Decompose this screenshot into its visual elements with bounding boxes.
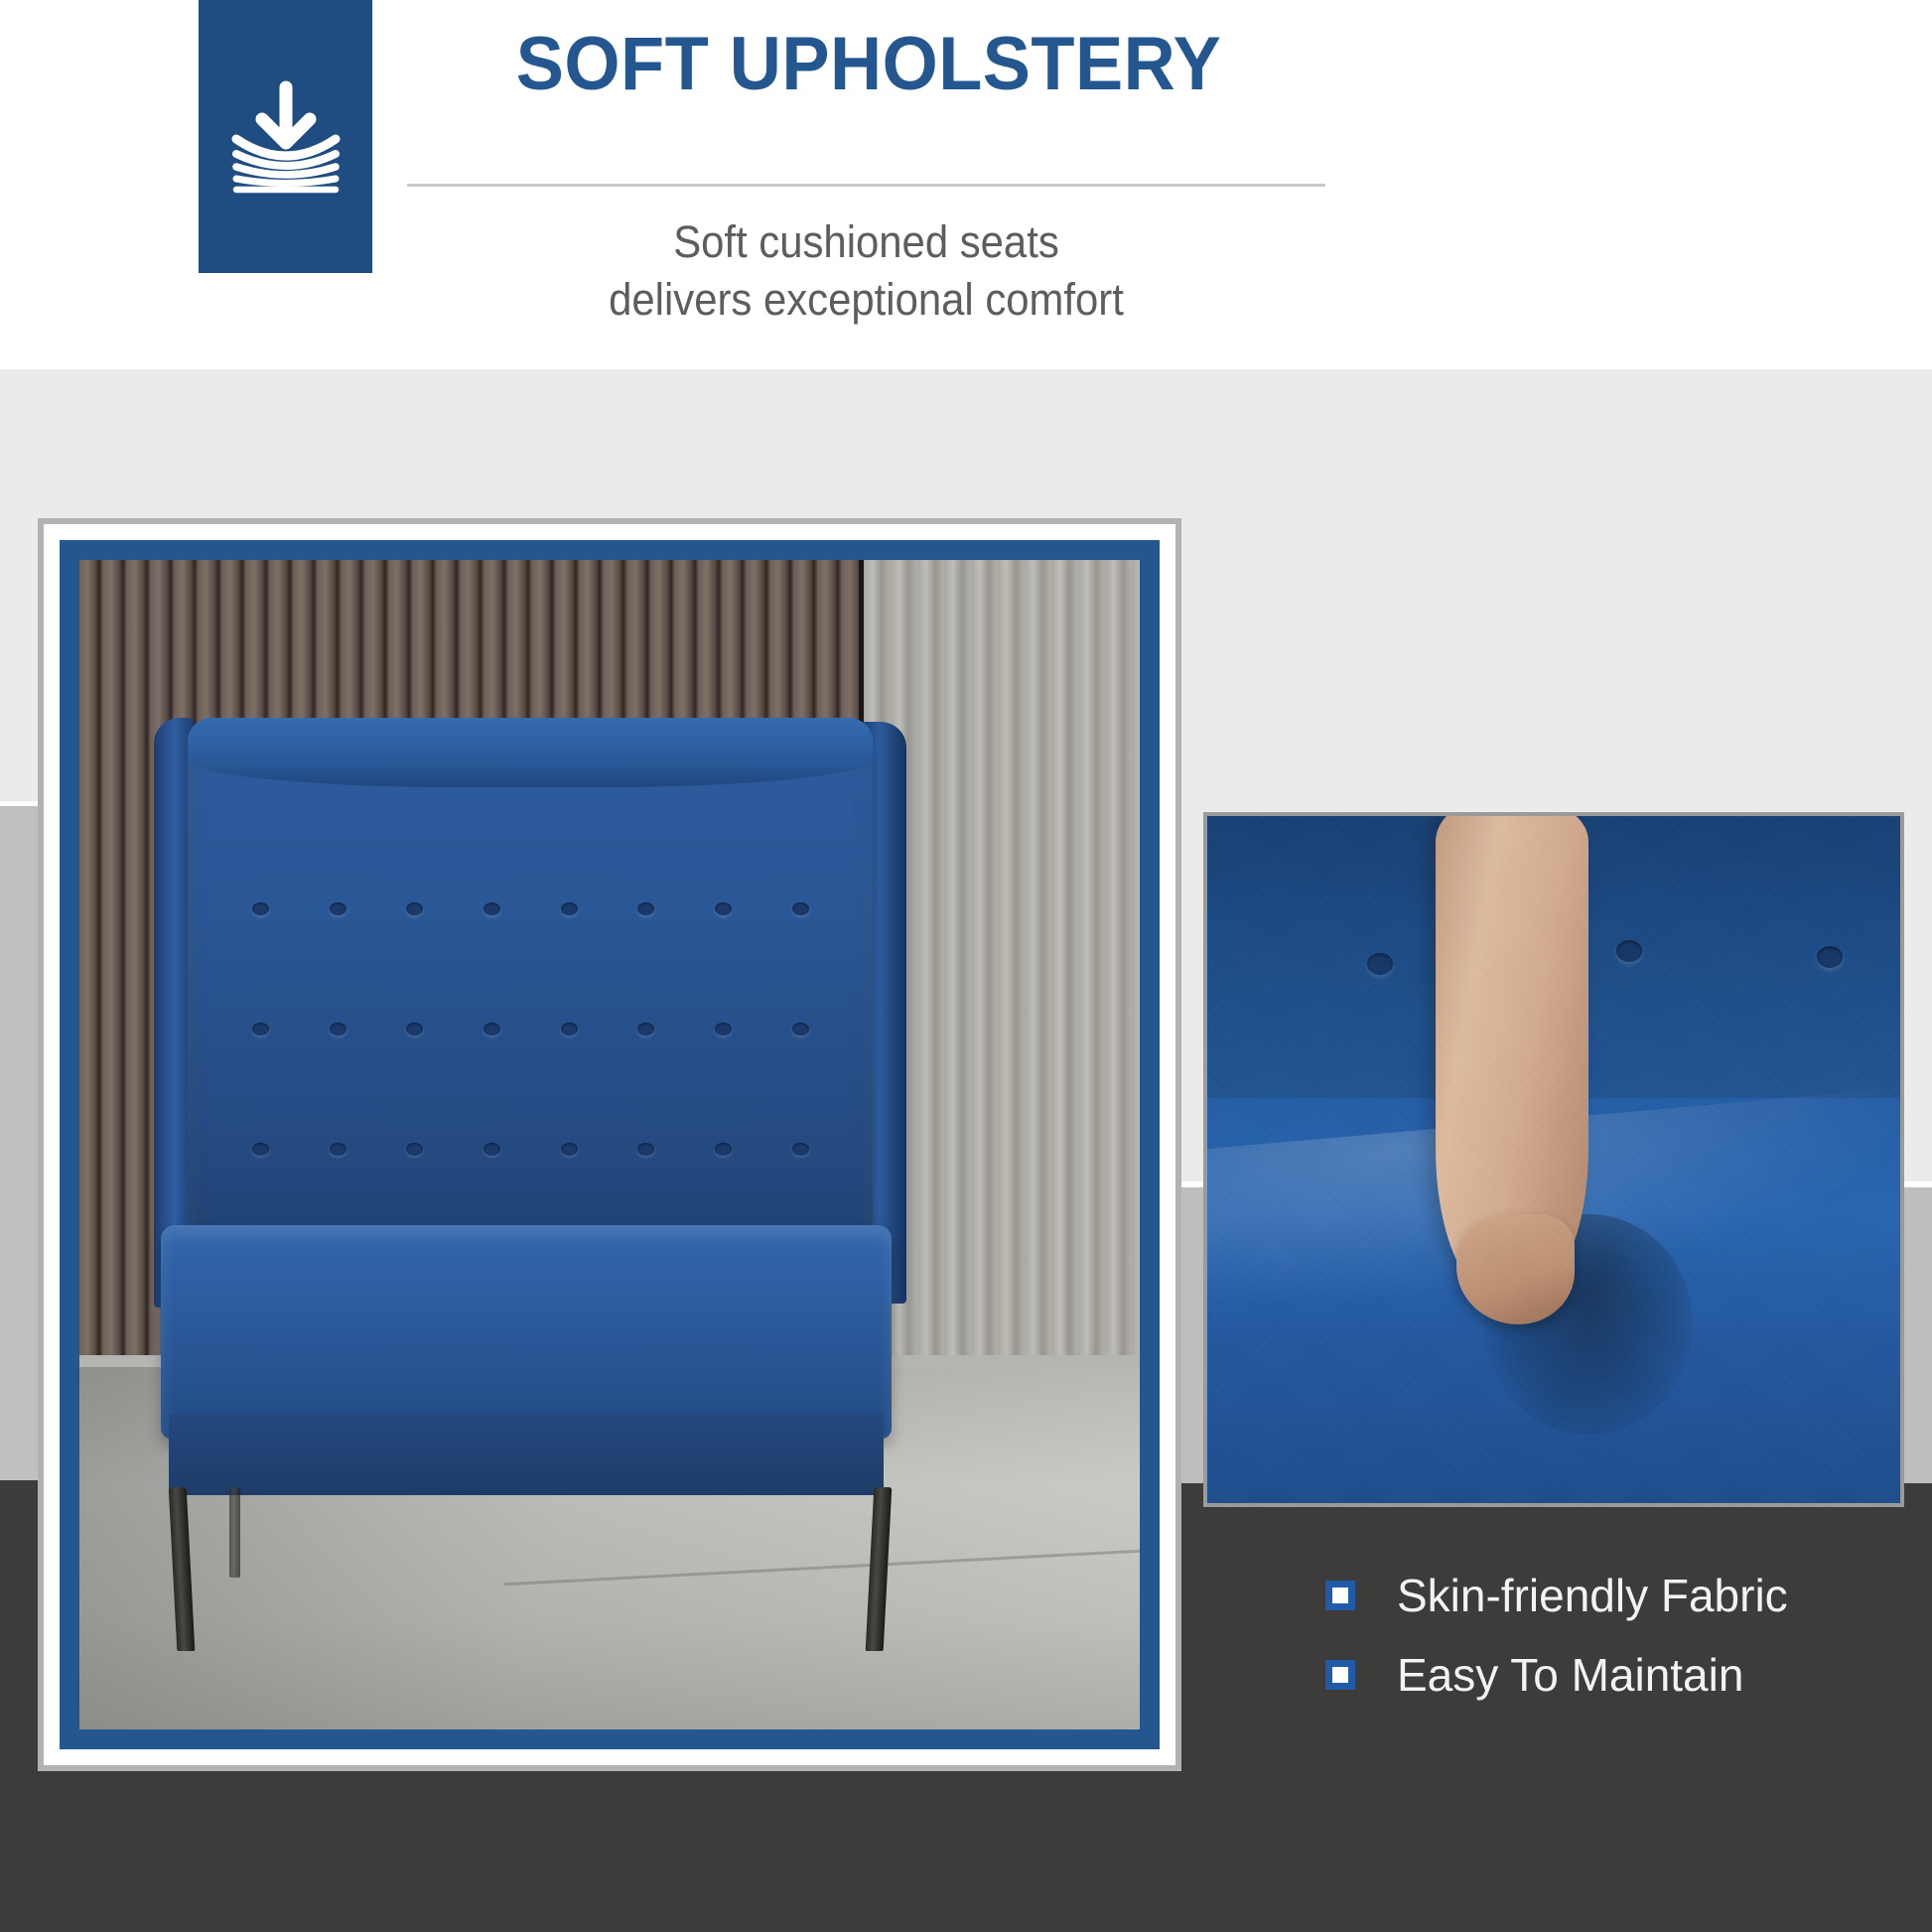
tuft-button — [684, 969, 761, 1089]
tuft-button — [684, 1089, 761, 1209]
main-photo-frame — [38, 518, 1181, 1771]
settee-tufting-grid — [221, 849, 839, 1209]
header-subtitle-line-2: delivers exceptional comfort — [439, 271, 1293, 329]
tuft-button — [453, 849, 530, 969]
tuft-button — [453, 1089, 530, 1209]
tuft-button — [530, 1089, 608, 1209]
tuft-button — [530, 969, 608, 1089]
main-photo-frame-white-mat — [44, 524, 1175, 1765]
main-photo-frame-blue-mat — [60, 540, 1160, 1749]
detail-product-photo — [1207, 816, 1900, 1503]
cushion-compress-down-arrow-icon — [220, 77, 351, 197]
feature-label: Skin-friendly Fabric — [1397, 1569, 1788, 1622]
feature-panel-canvas: SOFT UPHOLSTERY Soft cushioned seats del… — [0, 0, 1932, 1932]
detail-tuft-button — [1616, 940, 1642, 962]
feature-list: Skin-friendly Fabric Easy To Maintain — [1325, 1569, 1842, 1727]
header-subtitle: Soft cushioned seats delivers exceptiona… — [439, 213, 1293, 329]
header: SOFT UPHOLSTERY Soft cushioned seats del… — [0, 0, 1932, 369]
square-bullet-icon — [1325, 1660, 1355, 1690]
tuft-button — [221, 969, 299, 1089]
tuft-button — [299, 969, 376, 1089]
settee-leg-rear-left — [229, 1487, 240, 1578]
photo-settee — [154, 718, 906, 1537]
settee-top-roll — [188, 718, 873, 787]
tuft-button — [375, 969, 453, 1089]
tuft-button — [684, 849, 761, 969]
tuft-button — [761, 969, 839, 1089]
settee-front-apron — [169, 1414, 884, 1495]
page-title: SOFT UPHOLSTERY — [430, 22, 1308, 107]
header-subtitle-line-1: Soft cushioned seats — [439, 213, 1293, 271]
background-right-sliver — [1904, 1187, 1932, 1485]
tuft-button — [608, 1089, 685, 1209]
feature-label: Easy To Maintain — [1397, 1648, 1743, 1702]
tuft-button — [221, 1089, 299, 1209]
detail-photo-frame — [1203, 812, 1904, 1507]
square-bullet-icon — [1325, 1581, 1355, 1610]
tuft-button — [761, 849, 839, 969]
tuft-button — [453, 969, 530, 1089]
tuft-button — [608, 969, 685, 1089]
tuft-button — [221, 849, 299, 969]
list-item: Easy To Maintain — [1325, 1648, 1842, 1702]
tuft-button — [375, 1089, 453, 1209]
tuft-button — [608, 849, 685, 969]
detail-tuft-button — [1367, 953, 1393, 975]
tuft-button — [299, 1089, 376, 1209]
tuft-button — [299, 849, 376, 969]
header-divider — [407, 184, 1325, 187]
list-item: Skin-friendly Fabric — [1325, 1569, 1842, 1622]
tuft-button — [375, 849, 453, 969]
tuft-button — [530, 849, 608, 969]
tuft-button — [761, 1089, 839, 1209]
feature-icon-badge — [199, 0, 372, 273]
settee-seat-cushion — [161, 1225, 892, 1438]
main-product-photo — [79, 560, 1140, 1729]
detail-human-foot — [1456, 1214, 1575, 1324]
